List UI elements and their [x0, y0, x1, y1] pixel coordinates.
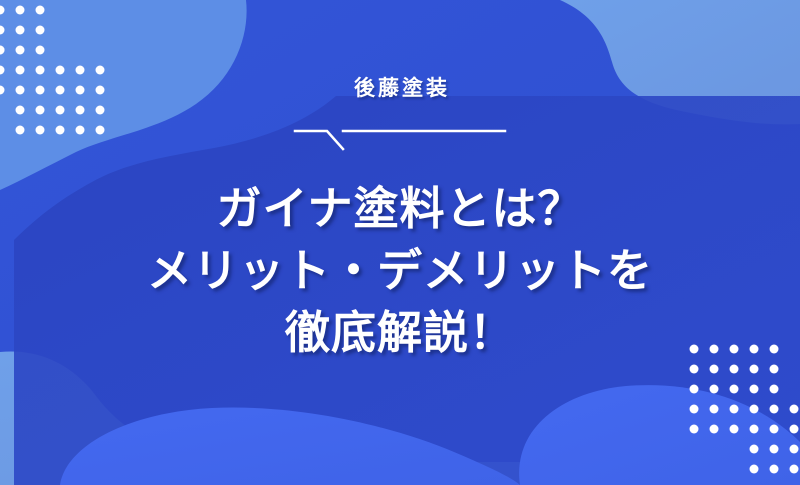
blob-bottom-right	[519, 385, 800, 485]
title-line-2: メリット・デメリットを	[0, 240, 800, 302]
brand-label: 後藤塗装	[4, 78, 800, 99]
thumbnail-banner: 後藤塗装 ガイナ塗料とは？ メリット・デメリットを 徹底解説！	[0, 0, 800, 485]
title-line-3: 徹底解説！	[0, 302, 800, 364]
page-title: ガイナ塗料とは？ メリット・デメリットを 徹底解説！	[0, 178, 800, 364]
blob-bottom-center	[60, 408, 520, 485]
title-line-1: ガイナ塗料とは？	[0, 178, 800, 240]
bottom-light-strip	[150, 462, 800, 485]
divider-wrapper	[0, 118, 800, 158]
blob-top-right	[560, 0, 800, 124]
angled-rule-icon	[0, 118, 800, 158]
brand-header: 後藤塗装	[0, 78, 800, 99]
dot-grid-top-left	[0, 6, 105, 135]
blob-bottom-left	[0, 351, 520, 485]
